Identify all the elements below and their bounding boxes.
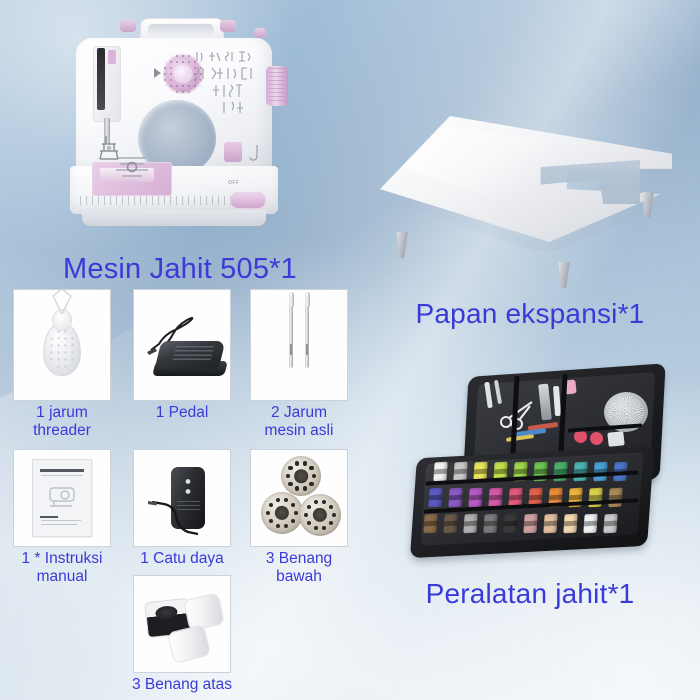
bobbins-art [251, 450, 347, 546]
machine-handwheel [266, 66, 288, 106]
thread-spool-29 [583, 514, 597, 534]
bobbin-perforation [329, 505, 333, 509]
bobbin-perforation [307, 521, 311, 525]
thread-spool-23 [463, 514, 477, 534]
caption-sewing-machine: Mesin Jahit 505*1 [0, 253, 360, 285]
instruction-manual-art [14, 450, 110, 546]
bobbin-perforation [322, 500, 326, 504]
manual-machine-diagram-icon [47, 484, 77, 510]
accessory-card-instruction-manual[interactable] [13, 449, 111, 547]
machine-power-label: OFF [228, 180, 240, 186]
bobbin-perforation [303, 461, 307, 465]
bobbin-3-icon [299, 494, 341, 536]
thread-spool-2 [453, 462, 467, 482]
machine-bobbin-winder-icon [224, 142, 242, 162]
label-line-1: 1 Pedal [130, 404, 234, 422]
accessory-card-foot-pedal[interactable] [133, 289, 231, 401]
bobbin-perforation [329, 521, 333, 525]
bobbin-hole [294, 469, 308, 483]
label-line-2: mesin asli [246, 422, 352, 440]
thread-spool-8 [573, 462, 587, 482]
thread-spool-27 [543, 514, 557, 534]
caption-expansion-board: Papan ekspansi*1 [360, 298, 700, 329]
machine-needles-art [251, 290, 347, 400]
label-line-1: 1 * Instruksi [2, 550, 122, 568]
board-leg-front-right [556, 262, 570, 288]
bobbin-perforation [295, 486, 299, 490]
label-thread-spools: 3 Benang atas [122, 676, 242, 694]
bobbin-perforation [269, 519, 273, 523]
bobbin-perforation [294, 511, 298, 515]
label-instruction-manual: 1 * Instruksi manual [2, 550, 122, 585]
bobbin-perforation [312, 474, 316, 478]
thread-spool-22 [443, 514, 457, 534]
machine-tension-slot [97, 48, 105, 110]
thread-spool-28 [563, 514, 577, 534]
label-line-1: 3 Benang atas [122, 676, 242, 694]
bobbin-perforation [276, 498, 280, 502]
bobbin-2-icon [261, 492, 303, 534]
bobbin-perforation [295, 461, 299, 465]
machine-needle-2-icon [305, 298, 309, 368]
label-line-1: 3 Benang [246, 550, 352, 568]
machine-base-plinth [82, 210, 266, 226]
machine-thread-guide [254, 28, 266, 38]
sewing-kit-case-image [408, 366, 670, 566]
label-bobbins: 3 Benang bawah [246, 550, 352, 585]
machine-needle-1-icon [289, 298, 293, 368]
machine-power-button [230, 192, 266, 209]
bobbin-hole [313, 508, 327, 522]
bobbin-perforation [314, 526, 318, 530]
product-montage-canvas: OFF [0, 0, 700, 700]
label-line-1: 2 Jarum [246, 404, 352, 422]
thread-spool-25 [503, 514, 517, 534]
board-leg-front-left [394, 232, 408, 258]
thread-spool-13 [468, 488, 482, 508]
bobbin-perforation [291, 519, 295, 523]
label-needle-threader: 1 jarum threader [8, 404, 116, 439]
label-power-supply: 1 Catu daya [128, 550, 236, 568]
sewing-machine-image: OFF [58, 14, 290, 246]
needle-threader-icon [43, 322, 81, 376]
bobbin-hole [275, 506, 289, 520]
accessory-card-bobbins[interactable] [250, 449, 348, 547]
thread-spool-1 [433, 462, 447, 482]
bobbin-perforation [266, 511, 270, 515]
label-line-2: threader [8, 422, 116, 440]
bobbin-perforation [309, 466, 313, 470]
thread-spool-white-1-icon [183, 593, 225, 632]
thread-spool-21 [423, 514, 437, 534]
thread-spool-26 [523, 514, 537, 534]
power-cable-icon [148, 480, 200, 538]
machine-dial-center [174, 65, 193, 84]
machine-needle-symbol-icon [248, 144, 260, 162]
bobbin-perforation [303, 486, 307, 490]
label-line-2: bawah [246, 568, 352, 586]
thread-spool-12 [448, 488, 462, 508]
manual-booklet-icon [32, 459, 92, 537]
bobbin-perforation [286, 474, 290, 478]
machine-handle-inset [148, 24, 214, 36]
accessory-card-power-supply[interactable] [133, 449, 231, 547]
bobbin-perforation [284, 524, 288, 528]
machine-spool-pin-right [220, 20, 236, 32]
thread-spools-art [134, 576, 230, 672]
bobbin-perforation [288, 482, 292, 486]
label-line-2: manual [2, 568, 122, 586]
accessory-card-thread-spools[interactable] [133, 575, 231, 673]
bobbin-perforation [304, 513, 308, 517]
caption-sewing-kit: Peralatan jahit*1 [360, 578, 700, 609]
power-supply-art [134, 450, 230, 546]
foot-pedal-art [134, 290, 230, 400]
machine-feed-dog-icon [110, 154, 154, 184]
label-line-1: 1 Catu daya [128, 550, 236, 568]
label-machine-needles: 2 Jarum mesin asli [246, 404, 352, 439]
thread-spool-14 [488, 488, 502, 508]
bobbin-perforation [276, 524, 280, 528]
machine-dial-pointer-icon [154, 68, 161, 78]
bobbin-perforation [284, 498, 288, 502]
thread-spool-30 [603, 514, 617, 534]
bobbin-perforation [314, 500, 318, 504]
machine-stitch-pattern-chart [194, 48, 260, 118]
label-foot-pedal: 1 Pedal [130, 404, 234, 422]
accessory-card-needle-threader[interactable] [13, 289, 111, 401]
expansion-board-image [372, 104, 688, 294]
bobbin-perforation [288, 466, 292, 470]
bobbin-1-icon [281, 456, 321, 496]
label-line-1: 1 jarum [8, 404, 116, 422]
thread-spool-20 [608, 488, 622, 508]
machine-handwheel-ridges [269, 68, 285, 104]
thread-spool-24 [483, 514, 497, 534]
bobbin-perforation [309, 482, 313, 486]
kit-safety-pins-icon [607, 431, 624, 447]
bobbin-perforation [332, 513, 336, 517]
bobbin-perforation [269, 503, 273, 507]
machine-spool-pin-left [120, 20, 136, 32]
bobbin-perforation [291, 503, 295, 507]
needle-threader-art [14, 290, 110, 400]
bobbin-perforation [307, 505, 311, 509]
thread-spool-11 [428, 488, 442, 508]
machine-tension-dial [108, 50, 116, 64]
accessory-card-machine-needles[interactable] [250, 289, 348, 401]
bobbin-perforation [322, 526, 326, 530]
stitch-glyphs-icon [194, 48, 260, 118]
